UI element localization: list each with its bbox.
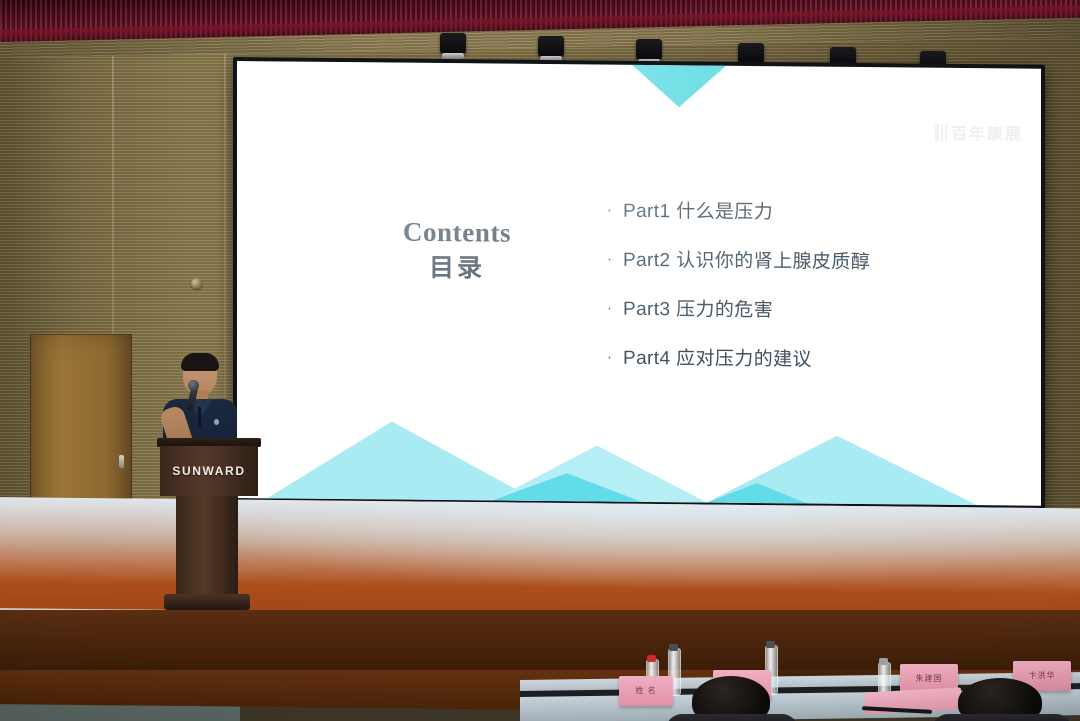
projection-screen-frame: Contents 目录 · Part1 什么是压力 · Part2 认识你的肾上… bbox=[233, 57, 1045, 510]
microphone-head-icon bbox=[188, 380, 199, 391]
podium-brand-label: SUNWARD bbox=[172, 464, 245, 478]
stage-light-icon bbox=[636, 39, 662, 61]
name-card-label: 卞洪华 bbox=[1013, 670, 1071, 681]
logo-mark-icon bbox=[935, 123, 947, 140]
door-handle-icon bbox=[119, 455, 124, 468]
presentation-photo: Contents 目录 · Part1 什么是压力 · Part2 认识你的肾上… bbox=[0, 0, 1080, 721]
toc-item-label: Part1 什么是压力 bbox=[623, 202, 773, 222]
bullet-icon: · bbox=[607, 300, 623, 317]
name-card-label: 朱建国 bbox=[900, 673, 958, 684]
bottle-cap-icon bbox=[766, 641, 775, 648]
list-item: · Part3 压力的危害 bbox=[607, 300, 1007, 323]
audience-shoulders bbox=[932, 714, 1072, 721]
name-card: 姓 名 bbox=[619, 676, 673, 706]
bottle-cap-icon bbox=[879, 658, 888, 665]
bullet-icon: · bbox=[607, 251, 623, 268]
presenter-hair bbox=[181, 353, 219, 371]
slide-watermark-logo: 百年康展 bbox=[935, 120, 1023, 145]
audience-shoulders bbox=[666, 714, 798, 721]
slide-heading-en: Contents bbox=[347, 217, 567, 247]
stage-platform bbox=[0, 497, 1080, 627]
slide-logo-text: 百年康展 bbox=[951, 120, 1023, 145]
front-stage-skirt bbox=[0, 610, 1080, 670]
stage-light-icon bbox=[538, 36, 564, 58]
bottle-cap-icon bbox=[647, 655, 656, 662]
bullet-icon: · bbox=[607, 349, 623, 366]
slide-toc-list: · Part1 什么是压力 · Part2 认识你的肾上腺皮质醇 · Part3… bbox=[607, 202, 1007, 402]
projection-screen: Contents 目录 · Part1 什么是压力 · Part2 认识你的肾上… bbox=[237, 61, 1041, 506]
toc-item-label: Part2 认识你的肾上腺皮质醇 bbox=[623, 251, 870, 272]
bottle-cap-icon bbox=[669, 644, 678, 651]
stage-light-icon bbox=[440, 33, 466, 55]
slide-top-triangle-decor bbox=[632, 65, 726, 108]
podium-front: SUNWARD bbox=[160, 446, 258, 496]
podium-base bbox=[164, 594, 250, 610]
presenter-shirt-logo bbox=[214, 419, 219, 425]
bullet-icon: · bbox=[607, 202, 623, 219]
toc-item-label: Part3 压力的危害 bbox=[623, 300, 773, 320]
slide-heading: Contents 目录 bbox=[347, 217, 567, 285]
presenter-placket bbox=[198, 407, 201, 427]
name-card-label: 姓 名 bbox=[619, 685, 673, 696]
podium-stem bbox=[176, 496, 238, 596]
list-item: · Part2 认识你的肾上腺皮质醇 bbox=[607, 251, 1007, 274]
wall-knob bbox=[191, 278, 202, 289]
stage-screen-reflection bbox=[0, 497, 1080, 627]
toc-item-label: Part4 应对压力的建议 bbox=[623, 349, 812, 370]
slide-mountain-decor bbox=[237, 408, 1041, 506]
list-item: · Part4 应对压力的建议 bbox=[607, 349, 1007, 372]
list-item: · Part1 什么是压力 bbox=[607, 202, 1007, 225]
slide-heading-cn: 目录 bbox=[347, 247, 567, 285]
